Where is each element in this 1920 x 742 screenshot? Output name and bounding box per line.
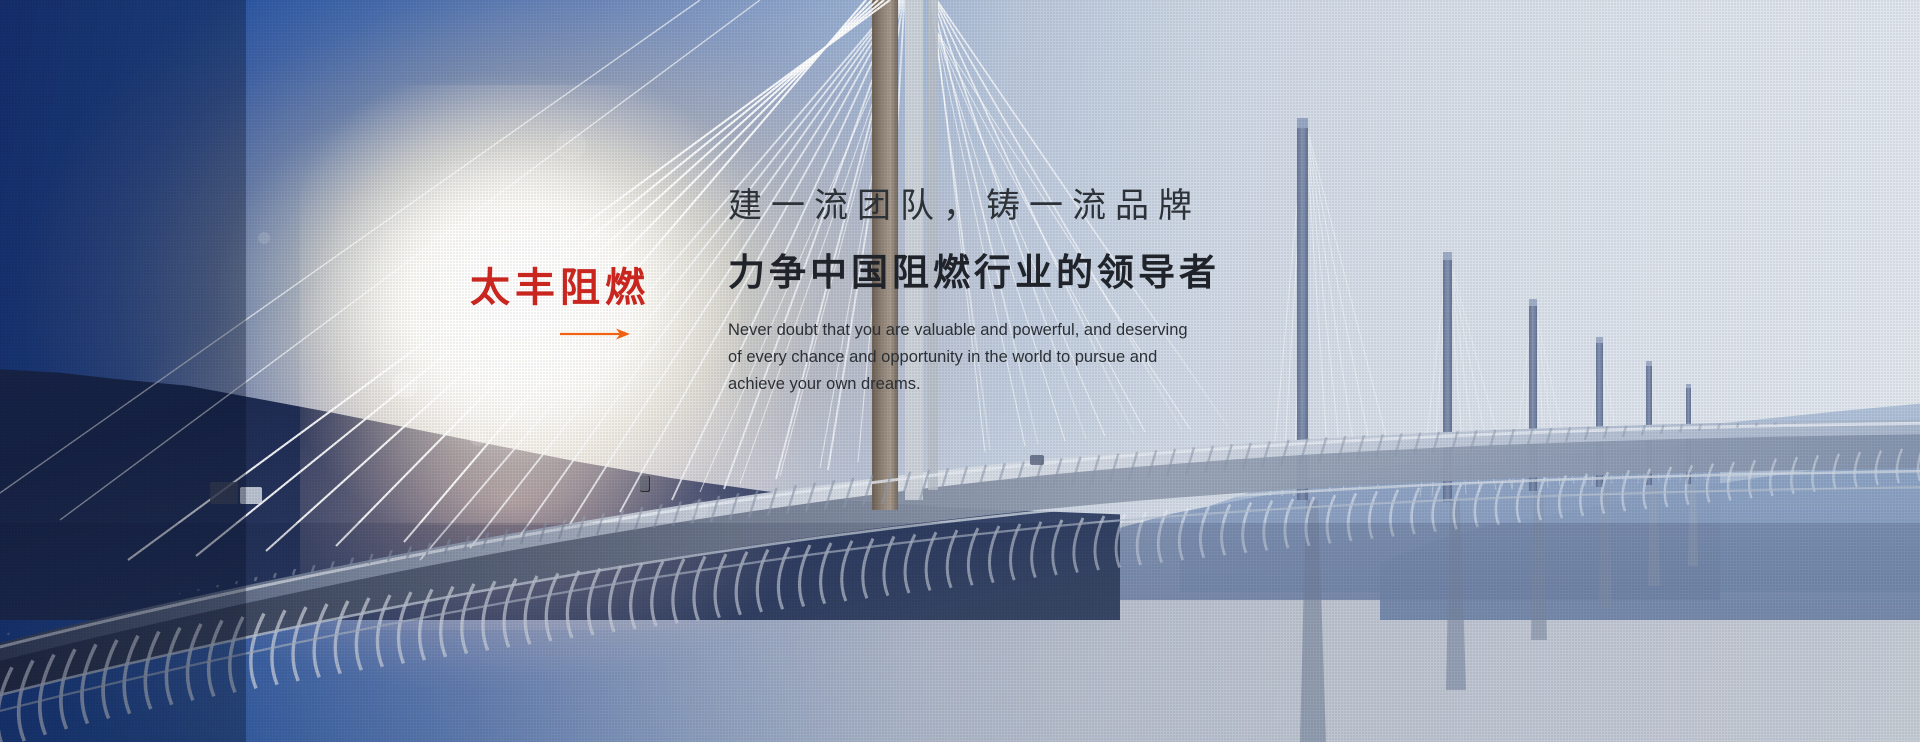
banner-body-text: Never doubt that you are valuable and po…	[728, 317, 1428, 398]
headline-secondary: 力争中国阻燃行业的领导者	[728, 254, 1428, 291]
brand-logo-text: 太丰阻燃	[470, 268, 670, 308]
body-line: Never doubt that you are valuable and po…	[728, 317, 1428, 344]
body-line: achieve your own dreams.	[728, 371, 1428, 398]
brand-logo[interactable]: 太丰阻燃	[470, 268, 670, 340]
arrow-right-icon	[560, 328, 632, 340]
headline-primary: 建一流团队，铸一流品牌	[728, 190, 1428, 224]
body-line: of every chance and opportunity in the w…	[728, 344, 1428, 371]
banner-content: 太丰阻燃 建一流团队，铸一流品牌 力争中国阻燃行业的领导者 Never doub…	[0, 0, 1920, 742]
banner-copy: 建一流团队，铸一流品牌 力争中国阻燃行业的领导者 Never doubt tha…	[728, 190, 1428, 398]
hero-banner: 太丰阻燃 建一流团队，铸一流品牌 力争中国阻燃行业的领导者 Never doub…	[0, 0, 1920, 742]
